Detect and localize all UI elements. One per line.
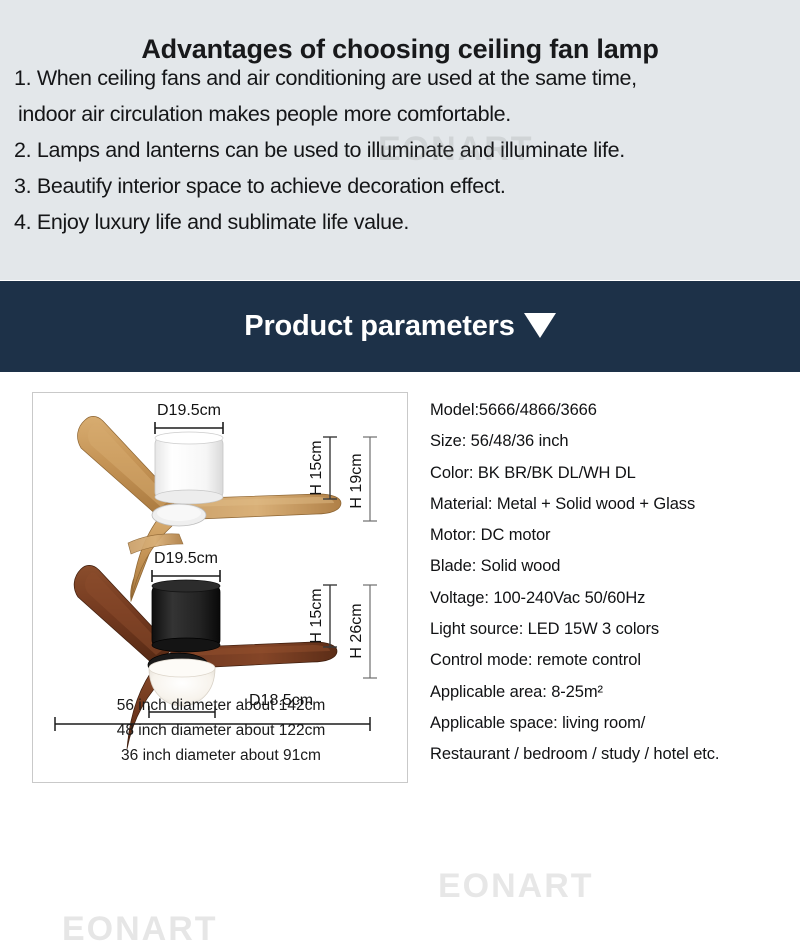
top-height-outer-label: H 19cm <box>348 453 365 508</box>
product-details-section: D19.5cm H 15cm H 19cm <box>0 372 800 800</box>
spec-item-light-source: Light source: LED 15W 3 colors <box>430 614 795 645</box>
advantage-item: 3. Beautify interior space to achieve de… <box>14 168 789 204</box>
triangle-down-icon <box>524 313 556 338</box>
bottom-height-inner-dimension <box>323 585 337 647</box>
spec-item-color: Color: BK BR/BK DL/WH DL <box>430 458 795 489</box>
spec-item-material: Material: Metal + Solid wood + Glass <box>430 489 795 520</box>
advantage-item: 2. Lamps and lanterns can be used to ill… <box>14 132 789 168</box>
spec-item-control-mode: Control mode: remote control <box>430 645 795 676</box>
advantage-item: indoor air circulation makes people more… <box>14 96 789 132</box>
section-heading-label: Product parameters <box>244 310 514 342</box>
advantages-list: 1. When ceiling fans and air conditionin… <box>14 60 789 240</box>
bottom-height-outer-dimension <box>363 585 377 678</box>
top-height-inner-dimension <box>323 437 337 499</box>
spec-item-applicable-space-continued: Restaurant / bedroom / study / hotel etc… <box>430 739 795 770</box>
advantage-item: 1. When ceiling fans and air conditionin… <box>14 60 789 96</box>
dimension-diagram-box: D19.5cm H 15cm H 19cm <box>32 392 408 783</box>
spec-item-blade: Blade: Solid wood <box>430 551 795 582</box>
spec-item-applicable-space: Applicable space: living room/ <box>430 708 795 739</box>
advantage-item: 4. Enjoy luxury life and sublimate life … <box>14 204 789 240</box>
spec-item-size: Size: 56/48/36 inch <box>430 426 795 457</box>
top-height-outer-dimension <box>363 437 377 521</box>
top-height-inner-label: H 15cm <box>308 440 325 495</box>
spec-item-model: Model:5666/4866/3666 <box>430 395 795 426</box>
bottom-diameter-label: D19.5cm <box>154 550 218 567</box>
diagram-caption: 36 inch diameter about 91cm <box>33 743 408 768</box>
section-heading: Product parameters <box>244 310 555 343</box>
advantages-panel: Advantages of choosing ceiling fan lamp … <box>0 0 800 280</box>
product-parameters-banner: Product parameters <box>0 281 800 372</box>
bottom-height-outer-label: H 26cm <box>348 603 365 658</box>
diagram-caption-list: 56 inch diameter about 142cm 48 inch dia… <box>33 693 408 768</box>
watermark-eonart: EONART <box>438 867 594 906</box>
watermark-eonart: EONART <box>62 910 218 949</box>
spec-item-voltage: Voltage: 100-240Vac 50/60Hz <box>430 583 795 614</box>
top-fan-illustration <box>78 416 341 601</box>
spec-item-motor: Motor: DC motor <box>430 520 795 551</box>
bottom-height-inner-label: H 15cm <box>308 588 325 643</box>
diagram-caption: 56 inch diameter about 142cm <box>33 693 408 718</box>
product-spec-list: Model:5666/4866/3666 Size: 56/48/36 inch… <box>430 395 795 771</box>
spec-item-applicable-area: Applicable area: 8-25m² <box>430 677 795 708</box>
top-diameter-label: D19.5cm <box>157 402 221 419</box>
diagram-caption: 48 inch diameter about 122cm <box>33 718 408 743</box>
